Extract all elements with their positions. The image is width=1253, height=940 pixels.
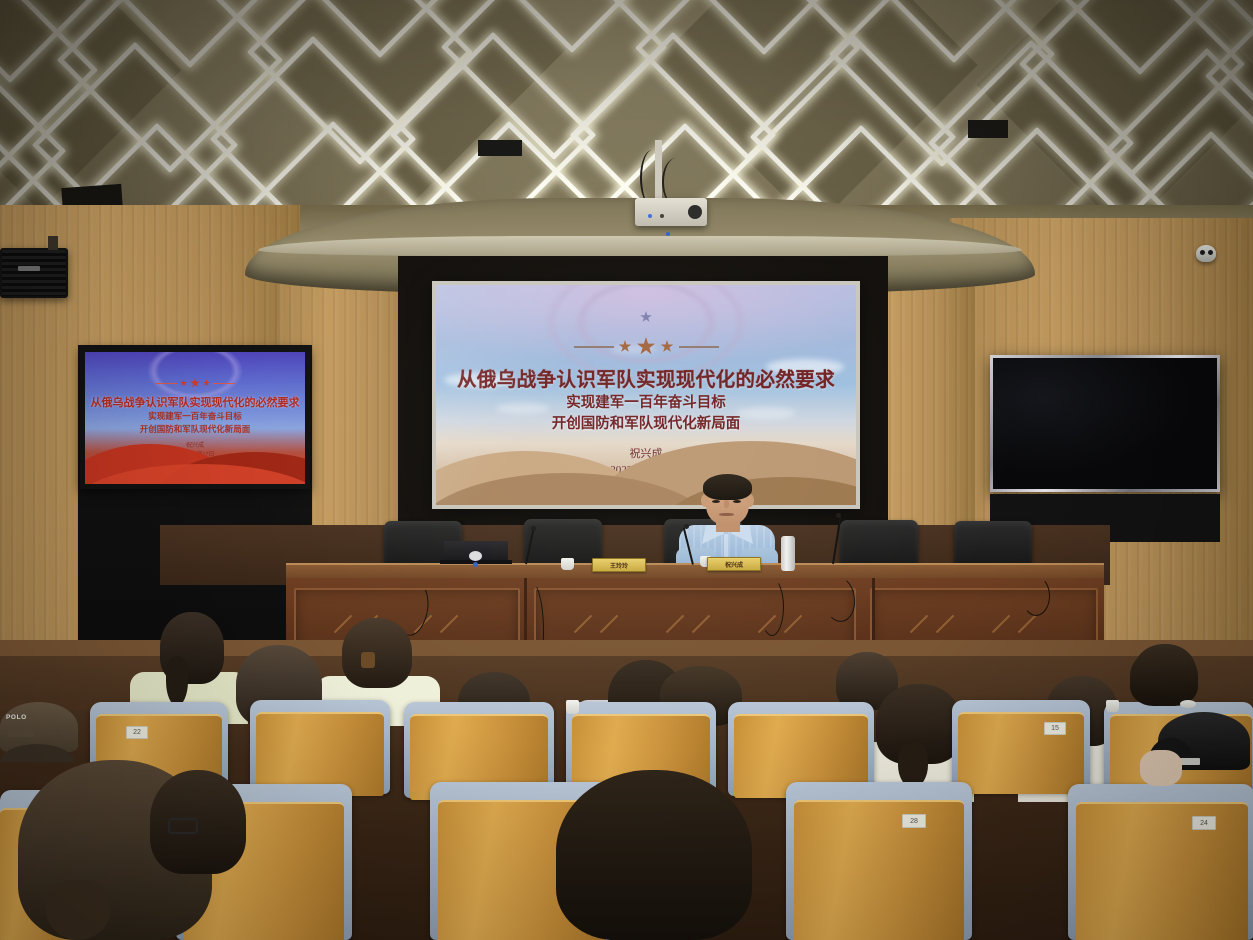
monitor-rule-left (155, 383, 177, 384)
monitor-slide-title: 从俄乌战争认识军队实现现代化的必然要求 (85, 394, 305, 410)
loudspeaker-badge (18, 266, 40, 271)
hair-clip-icon (361, 652, 375, 668)
conference-mic-base (469, 551, 482, 561)
speaker-nose (724, 500, 729, 508)
projector-status-led (666, 232, 670, 236)
microphone-head-icon (684, 524, 689, 529)
left-monitor-screen: 从俄乌战争认识军队实现现代化的必然要求 实现建军一百年奋斗目标 开创国防和军队现… (85, 352, 305, 484)
projector-lens-icon (688, 205, 702, 219)
nameplate-text: 王玲玲 (610, 561, 628, 570)
microphone-head-icon (836, 513, 841, 518)
dome-security-camera-icon (1196, 245, 1216, 262)
camera-lens-icon (1200, 250, 1205, 255)
stage-soffit-lip (258, 236, 1022, 256)
desk-cable (1022, 576, 1050, 616)
cap-strap (8, 730, 34, 737)
monitor-star-icon (203, 380, 210, 387)
seat-number-text: 24 (1200, 820, 1208, 827)
audience-person-hair (150, 770, 246, 874)
monitor-subtitle-line-2: 开创国防和军队现代化新局面 (85, 423, 305, 436)
nameplate: 祝兴成 (707, 557, 761, 571)
audience-person-hair (1130, 648, 1198, 706)
seat-number-label: 24 (1192, 816, 1216, 830)
monitor-rule-right (213, 383, 235, 384)
thermos-bottle[interactable] (781, 536, 795, 571)
paper-cup[interactable] (561, 558, 574, 570)
cap-logo-text: POLO (6, 714, 27, 721)
projection-screen: 从俄乌战争认识军队实现现代化的必然要求 实现建军一百年奋斗目标 开创国防和军队现… (432, 281, 860, 509)
audience-person-ponytail (46, 880, 110, 940)
speaker-eye-right (733, 500, 741, 503)
audience-person-hair (342, 618, 412, 688)
seat-number-label: 28 (902, 814, 926, 828)
audience-person-hair (1140, 750, 1182, 786)
microphone-head-icon (531, 526, 536, 531)
desk-cable (760, 578, 784, 636)
seat-number-text: 22 (133, 729, 141, 736)
audience-person-hair (556, 770, 752, 940)
presentation-slide: 从俄乌战争认识军队实现现代化的必然要求 实现建军一百年奋斗目标 开创国防和军队现… (436, 285, 856, 505)
right-television-screen (993, 358, 1217, 489)
seat-number-text: 28 (910, 818, 918, 825)
screen-glare (436, 285, 856, 505)
monitor-star-icon (190, 378, 200, 388)
monitor-star-row (85, 378, 305, 388)
monitor-subtitle-line-1: 实现建军一百年奋斗目标 (85, 410, 305, 423)
speaker-hair (703, 474, 752, 500)
nameplate: 王玲玲 (592, 558, 646, 572)
seat-number-label: 15 (1044, 722, 1066, 735)
loudspeaker-icon (0, 248, 68, 298)
camera-lens-icon (1208, 250, 1213, 255)
speaker-mouth (719, 513, 734, 516)
paper-cup[interactable] (1180, 700, 1196, 708)
audience-person-ponytail (166, 656, 188, 706)
auditorium-photo: 从俄乌战争认识军队实现现代化的必然要求 实现建军一百年奋斗目标 开创国防和军队现… (0, 0, 1253, 940)
left-monitor[interactable]: 从俄乌战争认识军队实现现代化的必然要求 实现建军一百年奋斗目标 开创国防和军队现… (80, 347, 310, 489)
projector-status-led (660, 214, 664, 218)
paper-cup[interactable] (1106, 700, 1119, 712)
projector-status-led (648, 214, 652, 218)
seat-number-label: 22 (126, 726, 148, 739)
seat-number-text: 15 (1051, 725, 1059, 732)
loudspeaker-mount (48, 236, 58, 250)
speaker-eye-left (712, 500, 720, 503)
paper-cup[interactable] (566, 700, 579, 714)
nameplate-text: 祝兴成 (725, 560, 743, 569)
right-television[interactable] (990, 355, 1220, 492)
eyeglasses-icon (168, 818, 198, 834)
monitor-star-icon (180, 380, 187, 387)
conference-mic-led (473, 562, 478, 567)
monitor-slide-subtitle: 实现建军一百年奋斗目标 开创国防和军队现代化新局面 (85, 410, 305, 436)
